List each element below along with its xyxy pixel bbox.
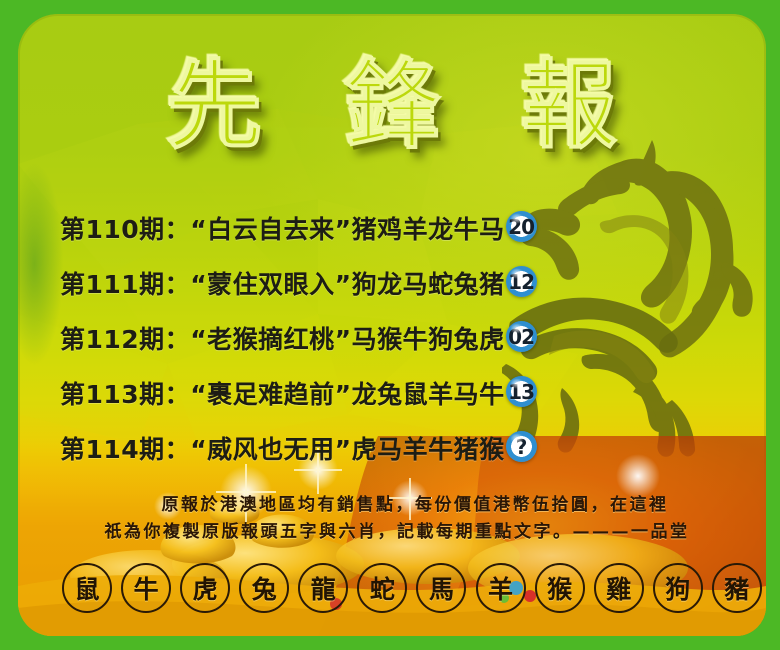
zodiac-sign-rooster[interactable]: 雞 [594, 563, 644, 613]
notice-line-2: 祇為你複製原版報頭五字與六肖，記載每期重點文字。———一品堂 [18, 519, 766, 546]
phrase-text: “老猴摘红桃” [190, 320, 351, 356]
forecast-row[interactable]: 第111期： “蒙住双眼入” 狗龙马蛇兔猪 12 [60, 255, 560, 310]
zodiac-row: 鼠 牛 虎 兔 龍 蛇 馬 羊 猴 雞 狗 豬 [62, 562, 762, 614]
issue-label: 第111期： [60, 265, 190, 301]
zodiac-sign-dragon[interactable]: 龍 [298, 563, 348, 613]
zodiac-sign-pig[interactable]: 豬 [712, 563, 762, 613]
phrase-text: “裹足难趋前” [190, 375, 351, 411]
result-ball: 20 [506, 211, 537, 242]
zodiac-sequence: 龙兔鼠羊马牛 [352, 375, 505, 411]
zodiac-sign-dog[interactable]: 狗 [653, 563, 703, 613]
forecast-list: 第110期： “白云自去来” 猪鸡羊龙牛马 20 第111期： “蒙住双眼入” … [60, 200, 560, 475]
forecast-row[interactable]: 第114期： “威风也无用” 虎马羊牛猪猴 ? [60, 420, 560, 475]
forecast-row[interactable]: 第110期： “白云自去来” 猪鸡羊龙牛马 20 [60, 200, 560, 255]
ball-number: 20 [508, 217, 534, 237]
phrase-text: “威风也无用” [190, 430, 351, 466]
ball-number: 13 [508, 382, 534, 402]
zodiac-sign-tiger[interactable]: 虎 [180, 563, 230, 613]
zodiac-sequence: 虎马羊牛猪猴 [352, 430, 505, 466]
ball-number: 02 [508, 327, 534, 347]
masthead: 先 鋒 報 [18, 58, 766, 156]
result-ball: 12 [506, 266, 537, 297]
result-ball: 13 [506, 376, 537, 407]
forecast-row[interactable]: 第113期： “裹足难趋前” 龙兔鼠羊马牛 13 [60, 365, 560, 420]
zodiac-sign-snake[interactable]: 蛇 [357, 563, 407, 613]
issue-label: 第110期： [60, 210, 190, 246]
zodiac-sign-horse[interactable]: 馬 [416, 563, 466, 613]
zodiac-sign-ox[interactable]: 牛 [121, 563, 171, 613]
poster-panel: 先 鋒 報 [18, 14, 766, 636]
notice-block: 原報於港澳地區均有銷售點，每份價值港幣伍拾圓，在這裡 祇為你複製原版報頭五字與六… [18, 492, 766, 546]
ball-number: ? [516, 437, 527, 457]
zodiac-sequence: 猪鸡羊龙牛马 [352, 210, 505, 246]
forecast-row[interactable]: 第112期： “老猴摘红桃” 马猴牛狗兔虎 02 [60, 310, 560, 365]
phrase-text: “白云自去来” [190, 210, 351, 246]
zodiac-sign-goat[interactable]: 羊 [476, 563, 526, 613]
result-ball: 02 [506, 321, 537, 352]
page-title: 先 鋒 報 [143, 58, 642, 156]
issue-label: 第112期： [60, 320, 190, 356]
zodiac-sign-monkey[interactable]: 猴 [535, 563, 585, 613]
zodiac-sequence: 狗龙马蛇兔猪 [352, 265, 505, 301]
zodiac-sign-rabbit[interactable]: 兔 [239, 563, 289, 613]
notice-line-1: 原報於港澳地區均有銷售點，每份價值港幣伍拾圓，在這裡 [18, 492, 766, 519]
ball-number: 12 [508, 272, 534, 292]
issue-label: 第113期： [60, 375, 190, 411]
poster-root: 先 鋒 報 [0, 0, 780, 650]
zodiac-sign-rat[interactable]: 鼠 [62, 563, 112, 613]
zodiac-sequence: 马猴牛狗兔虎 [352, 320, 505, 356]
issue-label: 第114期： [60, 430, 190, 466]
result-ball-unknown: ? [506, 431, 537, 462]
phrase-text: “蒙住双眼入” [190, 265, 351, 301]
